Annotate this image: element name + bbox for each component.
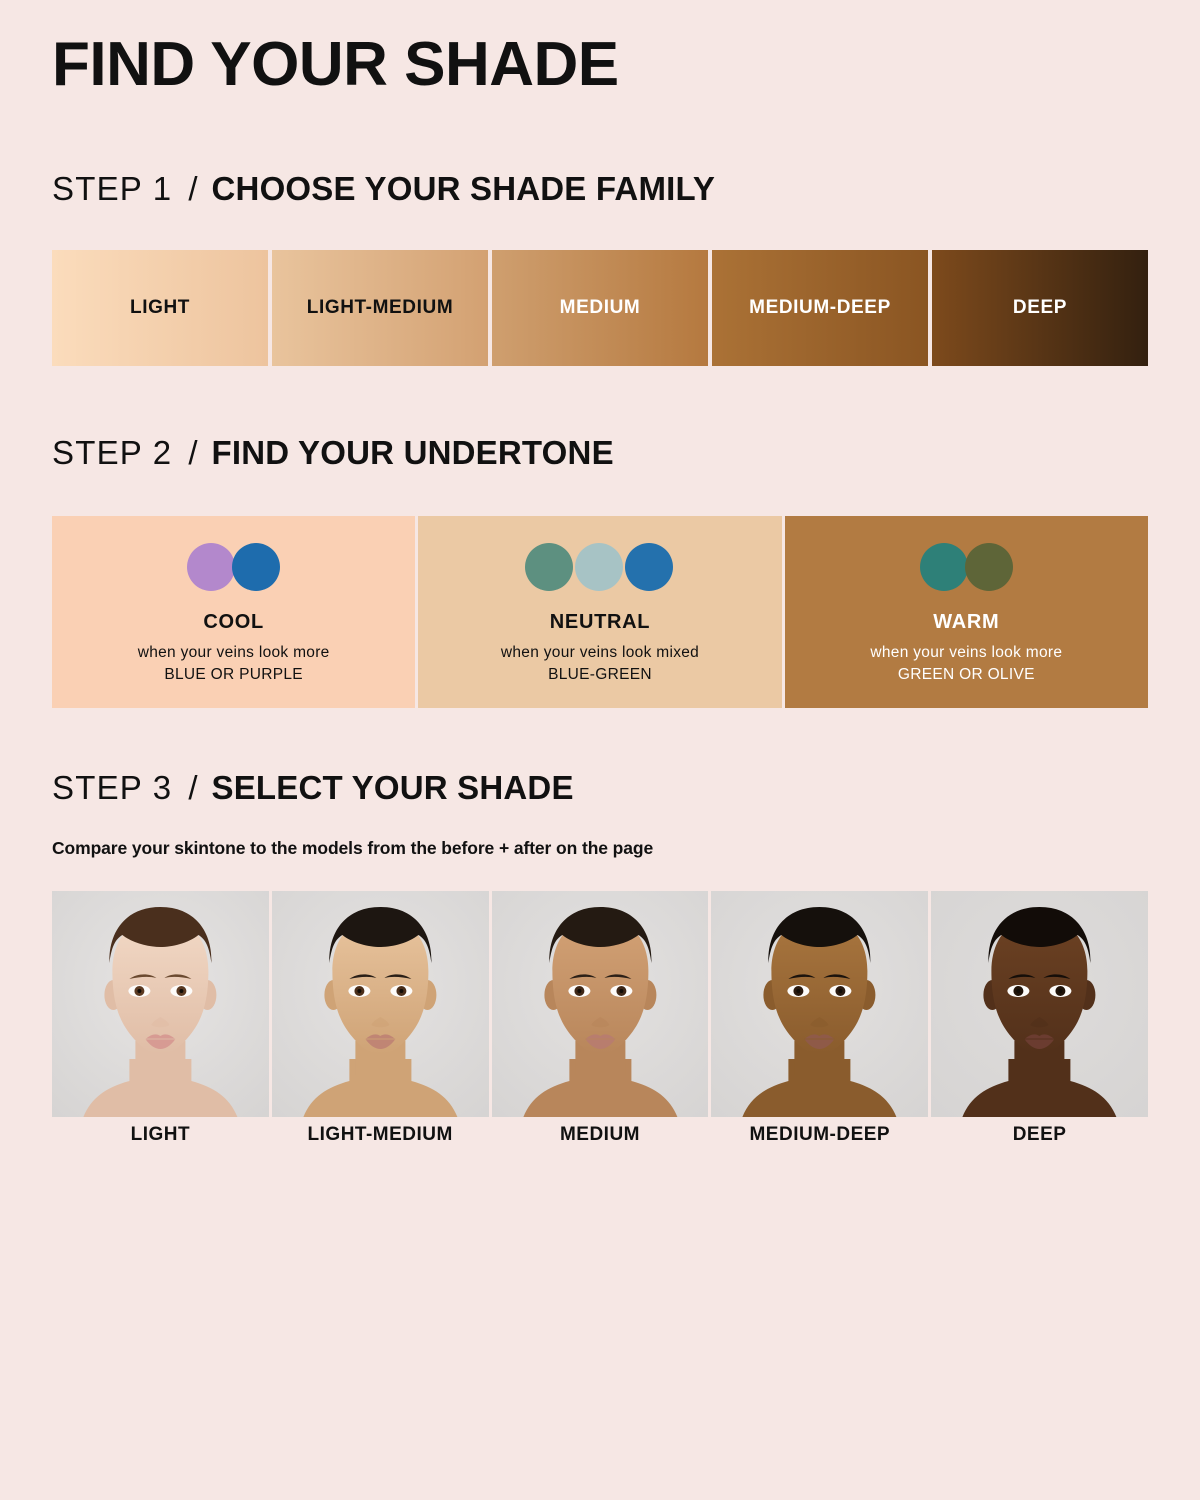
undertone-description-line-1: when your veins look mixed xyxy=(501,642,699,664)
undertone-color-dot xyxy=(920,543,968,591)
undertone-description: when your veins look moreGREEN OR OLIVE xyxy=(870,642,1062,686)
model-caption-medium-deep: MEDIUM-DEEP xyxy=(711,1124,928,1146)
step-2-title: FIND YOUR UNDERTONE xyxy=(212,434,614,472)
step-2-separator: / xyxy=(172,434,211,472)
model-photo-light[interactable] xyxy=(52,891,269,1117)
shade-family-swatch-light[interactable]: LIGHT xyxy=(52,250,268,366)
undertone-circles xyxy=(920,540,1013,594)
shade-family-swatch-medium[interactable]: MEDIUM xyxy=(492,250,708,366)
model-caption-medium: MEDIUM xyxy=(492,1124,709,1146)
step-3-separator: / xyxy=(172,769,211,807)
undertone-circles xyxy=(187,540,280,594)
undertone-description: when your veins look mixedBLUE-GREEN xyxy=(501,642,699,686)
model-photo-medium[interactable] xyxy=(492,891,709,1117)
shade-family-swatch-deep[interactable]: DEEP xyxy=(932,250,1148,366)
model-caption-row: LIGHTLIGHT-MEDIUMMEDIUMMEDIUM-DEEPDEEP xyxy=(52,1124,1148,1146)
undertone-name: WARM xyxy=(933,611,999,634)
undertone-description: when your veins look moreBLUE OR PURPLE xyxy=(138,642,330,686)
undertone-color-dot xyxy=(232,543,280,591)
shade-family-label: LIGHT-MEDIUM xyxy=(307,297,454,319)
step-2-number: STEP 2 xyxy=(52,434,172,472)
undertone-description-line-1: when your veins look more xyxy=(138,642,330,664)
shade-family-label: MEDIUM xyxy=(560,297,641,319)
undertone-color-dot xyxy=(575,543,623,591)
undertone-card-neutral[interactable]: NEUTRALwhen your veins look mixedBLUE-GR… xyxy=(418,516,781,708)
shade-family-label: DEEP xyxy=(1013,297,1067,319)
page-title: FIND YOUR SHADE xyxy=(52,34,619,96)
undertone-color-dot xyxy=(187,543,235,591)
model-caption-light: LIGHT xyxy=(52,1124,269,1146)
step-3-note: Compare your skintone to the models from… xyxy=(52,838,653,859)
undertone-circles xyxy=(525,540,675,594)
model-photo-medium-deep[interactable] xyxy=(711,891,928,1117)
undertone-description-line-2: GREEN OR OLIVE xyxy=(870,664,1062,686)
undertone-name: NEUTRAL xyxy=(550,611,650,634)
shade-family-swatch-light-medium[interactable]: LIGHT-MEDIUM xyxy=(272,250,488,366)
model-photo-deep[interactable] xyxy=(931,891,1148,1117)
step-3-number: STEP 3 xyxy=(52,769,172,807)
step-1-title: CHOOSE YOUR SHADE FAMILY xyxy=(212,170,716,208)
step-3-title: SELECT YOUR SHADE xyxy=(212,769,574,807)
model-caption-deep: DEEP xyxy=(931,1124,1148,1146)
model-caption-light-medium: LIGHT-MEDIUM xyxy=(272,1124,489,1146)
undertone-card-cool[interactable]: COOLwhen your veins look moreBLUE OR PUR… xyxy=(52,516,415,708)
step-1-separator: / xyxy=(172,170,211,208)
undertone-color-dot xyxy=(525,543,573,591)
shade-family-label: MEDIUM-DEEP xyxy=(749,297,891,319)
shade-family-bar: LIGHTLIGHT-MEDIUMMEDIUMMEDIUM-DEEPDEEP xyxy=(52,250,1148,366)
undertone-card-row: COOLwhen your veins look moreBLUE OR PUR… xyxy=(52,516,1148,708)
undertone-color-dot xyxy=(965,543,1013,591)
step-1-heading: STEP 1 / CHOOSE YOUR SHADE FAMILY xyxy=(52,170,715,208)
shade-family-label: LIGHT xyxy=(130,297,190,319)
find-your-shade-page: FIND YOUR SHADE STEP 1 / CHOOSE YOUR SHA… xyxy=(0,0,1200,1500)
step-3-heading: STEP 3 / SELECT YOUR SHADE xyxy=(52,769,574,807)
undertone-description-line-2: BLUE OR PURPLE xyxy=(138,664,330,686)
model-photo-light-medium[interactable] xyxy=(272,891,489,1117)
shade-family-swatch-medium-deep[interactable]: MEDIUM-DEEP xyxy=(712,250,928,366)
model-photo-row xyxy=(52,891,1148,1117)
undertone-card-warm[interactable]: WARMwhen your veins look moreGREEN OR OL… xyxy=(785,516,1148,708)
undertone-name: COOL xyxy=(203,611,264,634)
step-2-heading: STEP 2 / FIND YOUR UNDERTONE xyxy=(52,434,614,472)
undertone-description-line-2: BLUE-GREEN xyxy=(501,664,699,686)
undertone-description-line-1: when your veins look more xyxy=(870,642,1062,664)
undertone-color-dot xyxy=(625,543,673,591)
step-1-number: STEP 1 xyxy=(52,170,172,208)
